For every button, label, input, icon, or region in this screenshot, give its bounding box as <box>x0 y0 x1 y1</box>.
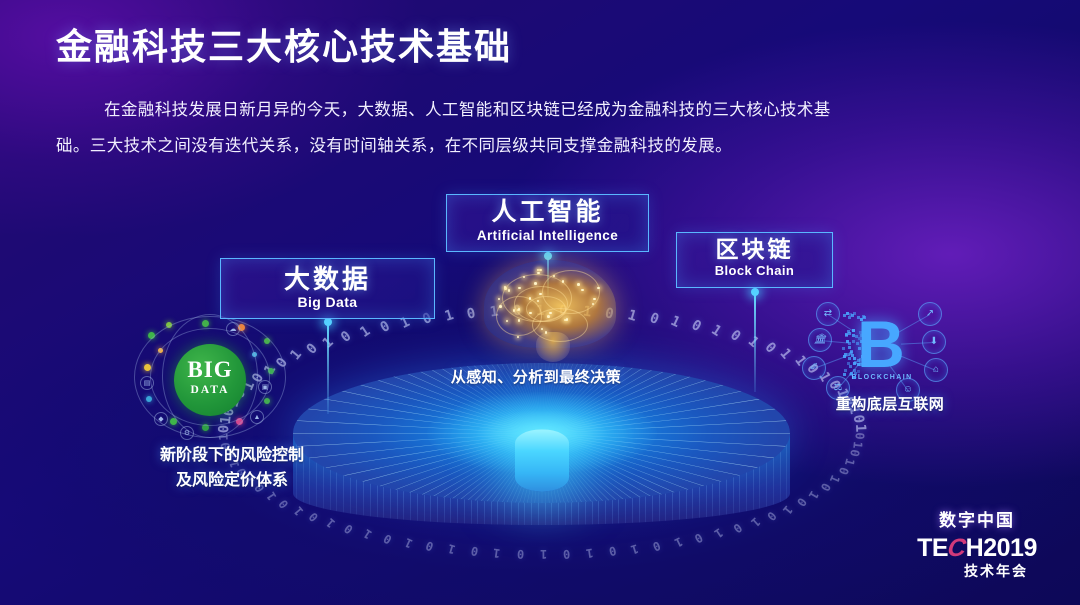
connector-dot-blockchain <box>751 288 759 296</box>
blockchain-pixel <box>852 329 855 332</box>
pillar-title-cn-blockchain: 区块链 <box>677 236 832 263</box>
binary-digit: 0 <box>761 339 778 356</box>
binary-digit: 1 <box>626 307 639 325</box>
brain-spark <box>529 312 532 315</box>
brain-spark <box>499 305 502 308</box>
brain-fold <box>532 308 588 342</box>
logo-title-cn: 数字中国 <box>902 506 1052 531</box>
blockchain-pixel <box>843 373 846 376</box>
binary-digit: 0 <box>793 495 809 509</box>
connector-line-bigdata <box>327 322 329 414</box>
connector-dot-bigdata <box>324 318 332 326</box>
binary-digit: 0 <box>338 328 354 346</box>
binary-digit: 0 <box>276 497 292 511</box>
binary-digit: 0 <box>465 305 477 322</box>
binary-digit: 0 <box>847 449 862 459</box>
binary-digit: 0 <box>850 414 867 424</box>
bigdata-icon-cluster: BIG DATA ▤▣⚙☁▲◆ <box>140 318 280 436</box>
binary-digit: 0 <box>377 318 392 336</box>
logo-tech-part-b: H2019 <box>966 534 1037 562</box>
brain-spark <box>562 280 565 283</box>
blockchain-pixel <box>852 334 855 337</box>
blockchain-pixel <box>860 340 863 343</box>
blockchain-pixel <box>852 340 855 343</box>
blockchain-pixel <box>858 347 861 350</box>
binary-digit: 0 <box>303 340 320 357</box>
bigdata-orbit-ring <box>162 314 258 438</box>
brain-spark <box>593 298 596 301</box>
binary-digit: 1 <box>708 322 724 340</box>
blockchain-pixel <box>847 330 850 333</box>
blockchain-pixel <box>853 362 856 365</box>
bigdata-mini-icon: ▣ <box>258 380 272 394</box>
pillar-title-en-ai: Artificial Intelligence <box>447 227 648 244</box>
pillar-title-en-bigdata: Big Data <box>221 294 434 311</box>
logo-tech-part-a: TE <box>917 534 948 562</box>
blockchain-pixel <box>842 347 845 350</box>
binary-digit: 0 <box>835 465 851 476</box>
binary-digit: 1 <box>320 334 337 352</box>
blockchain-pixel <box>853 376 856 379</box>
logo-subtitle-cn: 技术年会 <box>902 561 1052 581</box>
binary-digit: 1 <box>827 473 843 485</box>
binary-digit: 1 <box>357 323 373 341</box>
intro-paragraph-line-1: 在金融科技发展日新月异的今天，大数据、人工智能和区块链已经成为金融科技的三大核心… <box>104 101 831 119</box>
blockchain-pixel <box>848 316 851 319</box>
pillar-title-cn-ai: 人工智能 <box>447 198 648 227</box>
brain-spark <box>539 269 542 272</box>
binary-digit: 0 <box>852 432 866 440</box>
bigdata-mini-icon: ☁ <box>226 322 240 336</box>
pillar-box-ai[interactable]: 人工智能 Artificial Intelligence <box>446 194 649 252</box>
binary-digit: 0 <box>727 327 743 345</box>
blockchain-pixel <box>848 357 851 360</box>
pillar-caption-blockchain: 重构底层互联网 <box>790 393 990 414</box>
blockchain-pixel <box>860 318 863 321</box>
bigdata-mini-icon: ▲ <box>250 410 264 424</box>
blockchain-pixel <box>848 346 851 349</box>
connector-line-blockchain <box>754 292 756 392</box>
pillar-title-en-blockchain: Block Chain <box>677 263 832 279</box>
brain-spark <box>539 293 542 296</box>
binary-digit: 1 <box>668 313 682 331</box>
blockchain-pixel <box>849 365 852 368</box>
brain-illustration <box>480 256 620 368</box>
pillar-caption-bigdata-line-1: 新阶段下的风险控制 <box>92 443 372 468</box>
logo-tech-wordmark: TECH2019 <box>902 535 1052 561</box>
blockchain-pixel <box>863 337 866 340</box>
brain-spark <box>545 331 548 334</box>
brain-spark <box>547 315 550 318</box>
binary-digit: 1 <box>777 346 795 363</box>
blockchain-pixel <box>851 354 854 357</box>
binary-digit: 1 <box>442 307 455 325</box>
bigdata-mini-icon: ◆ <box>154 412 168 426</box>
blockchain-pixel <box>843 314 846 317</box>
brain-spark <box>537 272 540 275</box>
brain-spark <box>513 309 516 312</box>
binary-digit: 0 <box>817 481 833 494</box>
blockchain-pixel <box>858 337 861 340</box>
binary-digit: 0 <box>647 310 661 328</box>
binary-digit: 1 <box>852 423 868 432</box>
binary-digit: 1 <box>806 488 822 501</box>
binary-digit: 1 <box>851 440 866 449</box>
bigdata-mini-icon: ▤ <box>140 376 154 390</box>
blockchain-pixel <box>864 363 867 366</box>
bigdata-mini-icon: ⚙ <box>180 426 194 440</box>
slide-canvas: 金融科技三大核心技术基础 在金融科技发展日新月异的今天，大数据、人工智能和区块链… <box>0 0 1080 605</box>
blockchain-pixel <box>850 350 853 353</box>
blockchain-pixel <box>849 373 852 376</box>
brain-spark <box>577 283 580 286</box>
intro-paragraph: 在金融科技发展日新月异的今天，大数据、人工智能和区块链已经成为金融科技的三大核心… <box>56 92 1024 164</box>
intro-paragraph-line-2: 础。三大技术之间没有迭代关系，没有时间轴关系，在不同层级共同支撑金融科技的发展。 <box>56 128 1024 164</box>
brain-spark <box>529 297 532 300</box>
pillar-box-blockchain[interactable]: 区块链 Block Chain <box>676 232 833 288</box>
blockchain-pixel <box>863 326 866 329</box>
blockchain-icon-cluster: B BLOCKCHAIN ⇄🏛✐⚖↗⬇⌂☺ <box>800 300 950 400</box>
page-title: 金融科技三大核心技术基础 <box>56 18 512 70</box>
binary-digit: 1 <box>842 457 857 467</box>
event-logo: 数字中国 TECH2019 技术年会 <box>902 506 1052 581</box>
blockchain-pixel <box>851 314 854 317</box>
binary-digit: 0 <box>689 317 704 335</box>
pillar-title-cn-bigdata: 大数据 <box>221 264 434 294</box>
brain-spark <box>581 289 584 292</box>
blockchain-pixel <box>863 316 866 319</box>
blockchain-pixel <box>847 353 850 356</box>
disc-core-beacon <box>515 429 569 491</box>
brain-spark <box>534 282 537 285</box>
binary-digit: 1 <box>288 347 306 364</box>
pillar-caption-bigdata-line-2: 及风险定价体系 <box>92 468 372 493</box>
brain-spark <box>566 318 569 321</box>
pillar-box-bigdata[interactable]: 大数据 Big Data <box>220 258 435 319</box>
pillar-caption-ai: 从感知、分析到最终决策 <box>420 366 652 387</box>
blockchain-pixel <box>859 361 862 364</box>
blockchain-pixel <box>853 357 856 360</box>
pillar-caption-bigdata: 新阶段下的风险控制 及风险定价体系 <box>92 443 372 493</box>
blockchain-pixel <box>843 355 846 358</box>
blockchain-pixel <box>863 351 866 354</box>
blockchain-pixel <box>856 342 859 345</box>
blockchain-pixel <box>844 369 847 372</box>
blockchain-pixel <box>857 370 860 373</box>
blockchain-pixel <box>846 340 849 343</box>
brain-fold <box>542 270 600 314</box>
